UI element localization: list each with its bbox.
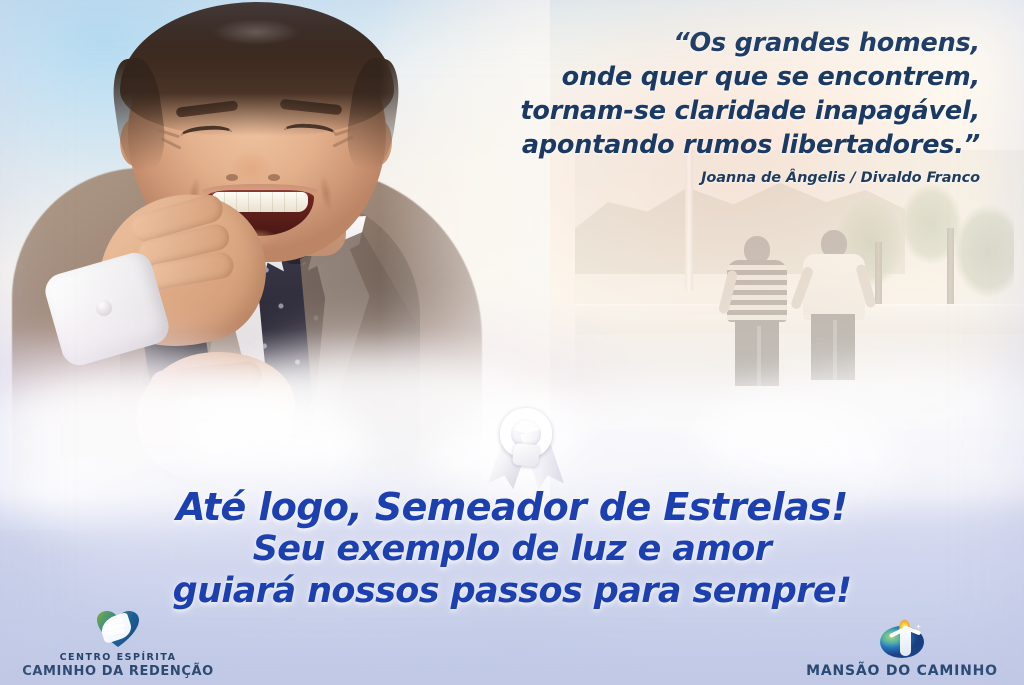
ghost-person-torso (803, 254, 865, 320)
message-line-3: guiará nossos passos para sempre! (0, 570, 1024, 612)
ghost-person-torso (727, 260, 787, 322)
ghost-person-striped-shirt (727, 236, 787, 386)
star-icon (916, 624, 921, 629)
quote-line-4: apontando rumos libertadores.” (400, 128, 980, 162)
logo-left-line-1: CENTRO ESPÍRITA (18, 652, 218, 664)
ribbon-knot (512, 443, 540, 468)
portrait-cuff-button (96, 300, 112, 316)
message-line-2: Seu exemplo de luz e amor (0, 528, 1024, 570)
logo-right-line-1: MANSÃO DO CAMINHO (792, 663, 1012, 679)
logo-mansao-do-caminho: MANSÃO DO CAMINHO (792, 618, 1012, 679)
ghost-ground (575, 334, 1024, 430)
quote-line-2: onde quer que se encontrem, (400, 60, 980, 94)
ghost-wall (575, 304, 1024, 334)
ghost-scene-two-people-walking (575, 150, 1024, 430)
heart-hands-icon (93, 609, 143, 649)
logo-centro-espirita: CENTRO ESPÍRITA CAMINHO DA REDENÇÃO (18, 609, 218, 679)
quote-text: “Os grandes homens, onde quer que se enc… (400, 26, 980, 162)
ghost-person-legs (735, 320, 779, 386)
ghost-person-white-shirt (803, 230, 865, 386)
portrait-hair-highlight (196, 14, 316, 50)
tribute-message: Até logo, Semeador de Estrelas! Seu exem… (0, 486, 1024, 612)
portrait-nostril-left (226, 174, 238, 181)
portrait-nostril-right (268, 174, 280, 181)
mourning-ribbon-icon (487, 408, 565, 488)
logo-left-line-2: CAMINHO DA REDENÇÃO (18, 664, 218, 679)
quote-line-1: “Os grandes homens, (400, 26, 980, 60)
globe-figure-flame-icon (878, 618, 926, 660)
message-line-1: Até logo, Semeador de Estrelas! (0, 486, 1024, 528)
memorial-poster: “Os grandes homens, onde quer que se enc… (0, 0, 1024, 685)
quote-attribution: Joanna de Ângelis / Divaldo Franco (400, 170, 980, 186)
ghost-person-legs (811, 314, 855, 380)
quote-line-3: tornam-se claridade inapagável, (400, 94, 980, 128)
